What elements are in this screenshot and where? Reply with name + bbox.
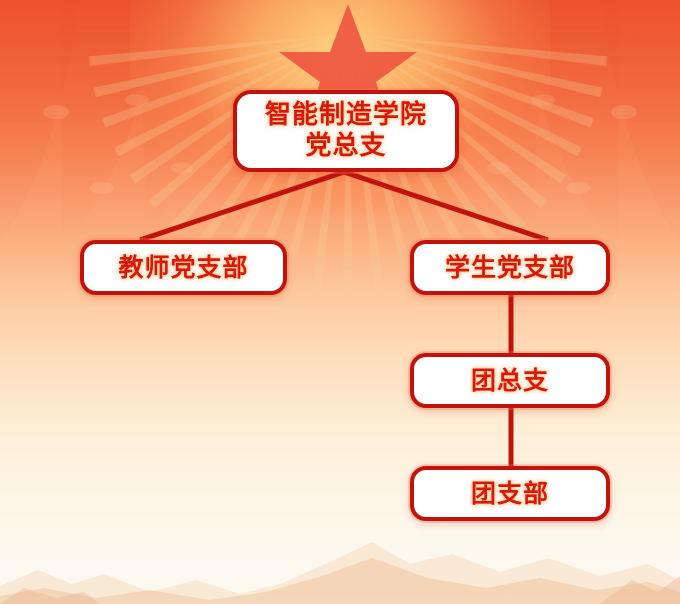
node-league-branch[interactable]: 团支部 [410,466,610,521]
node-party-general-branch[interactable]: 智能制造学院 党总支 [233,90,459,172]
node-teacher-party-branch[interactable]: 教师党支部 [80,240,287,295]
node-label: 教师党支部 [118,253,248,283]
node-label: 团总支 [471,366,549,396]
org-chart-canvas: 智能制造学院 党总支 教师党支部 学生党支部 团总支 团支部 [0,0,680,604]
node-label: 学生党支部 [445,253,575,283]
node-student-party-branch[interactable]: 学生党支部 [410,240,610,295]
node-label: 智能制造学院 党总支 [265,100,427,161]
node-league-general-branch[interactable]: 团总支 [410,353,610,408]
node-label: 团支部 [471,479,549,509]
